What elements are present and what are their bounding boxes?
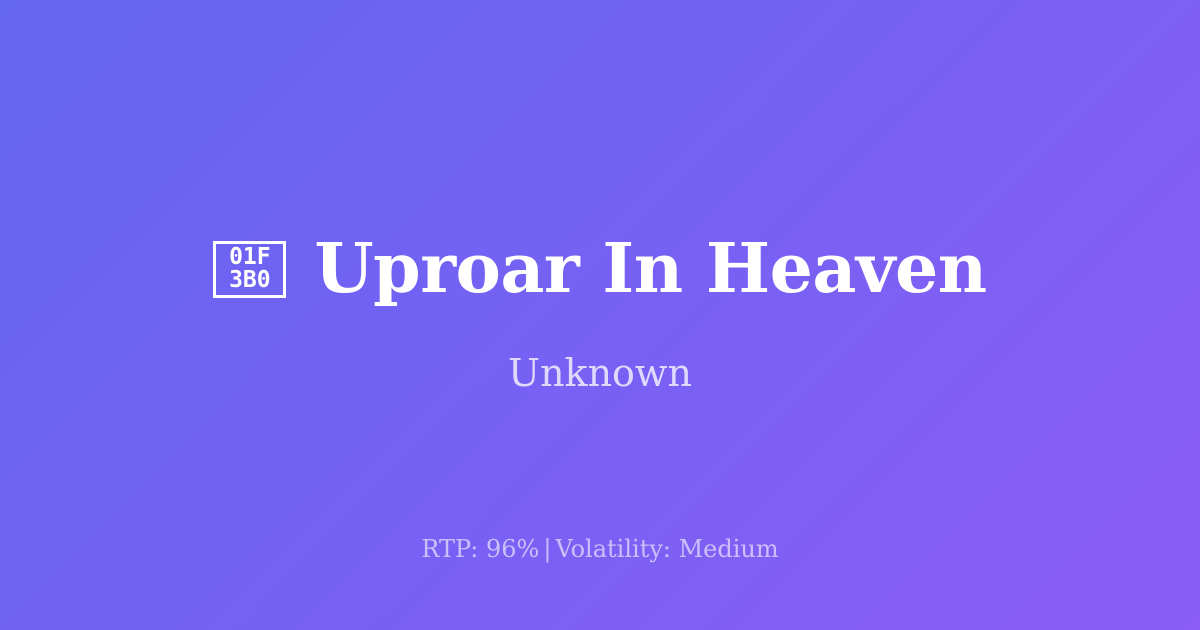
stats-separator: | — [539, 535, 555, 563]
rtp-value: RTP: 96% — [421, 535, 539, 563]
card-hero: 01F 3B0 Uproar In Heaven — [60, 234, 1140, 305]
slot-machine-icon-codepoint-high: 01F — [229, 246, 271, 270]
volatility-value: Volatility: Medium — [555, 535, 778, 563]
slot-machine-icon: 01F 3B0 — [213, 241, 286, 298]
game-stats: RTP: 96%|Volatility: Medium — [0, 535, 1200, 564]
slot-machine-icon-codepoint-low: 3B0 — [229, 269, 271, 293]
game-preview-card: 01F 3B0 Uproar In Heaven Unknown RTP: 96… — [0, 0, 1200, 630]
page-title: Uproar In Heaven — [314, 234, 986, 305]
provider-name: Unknown — [508, 351, 692, 397]
